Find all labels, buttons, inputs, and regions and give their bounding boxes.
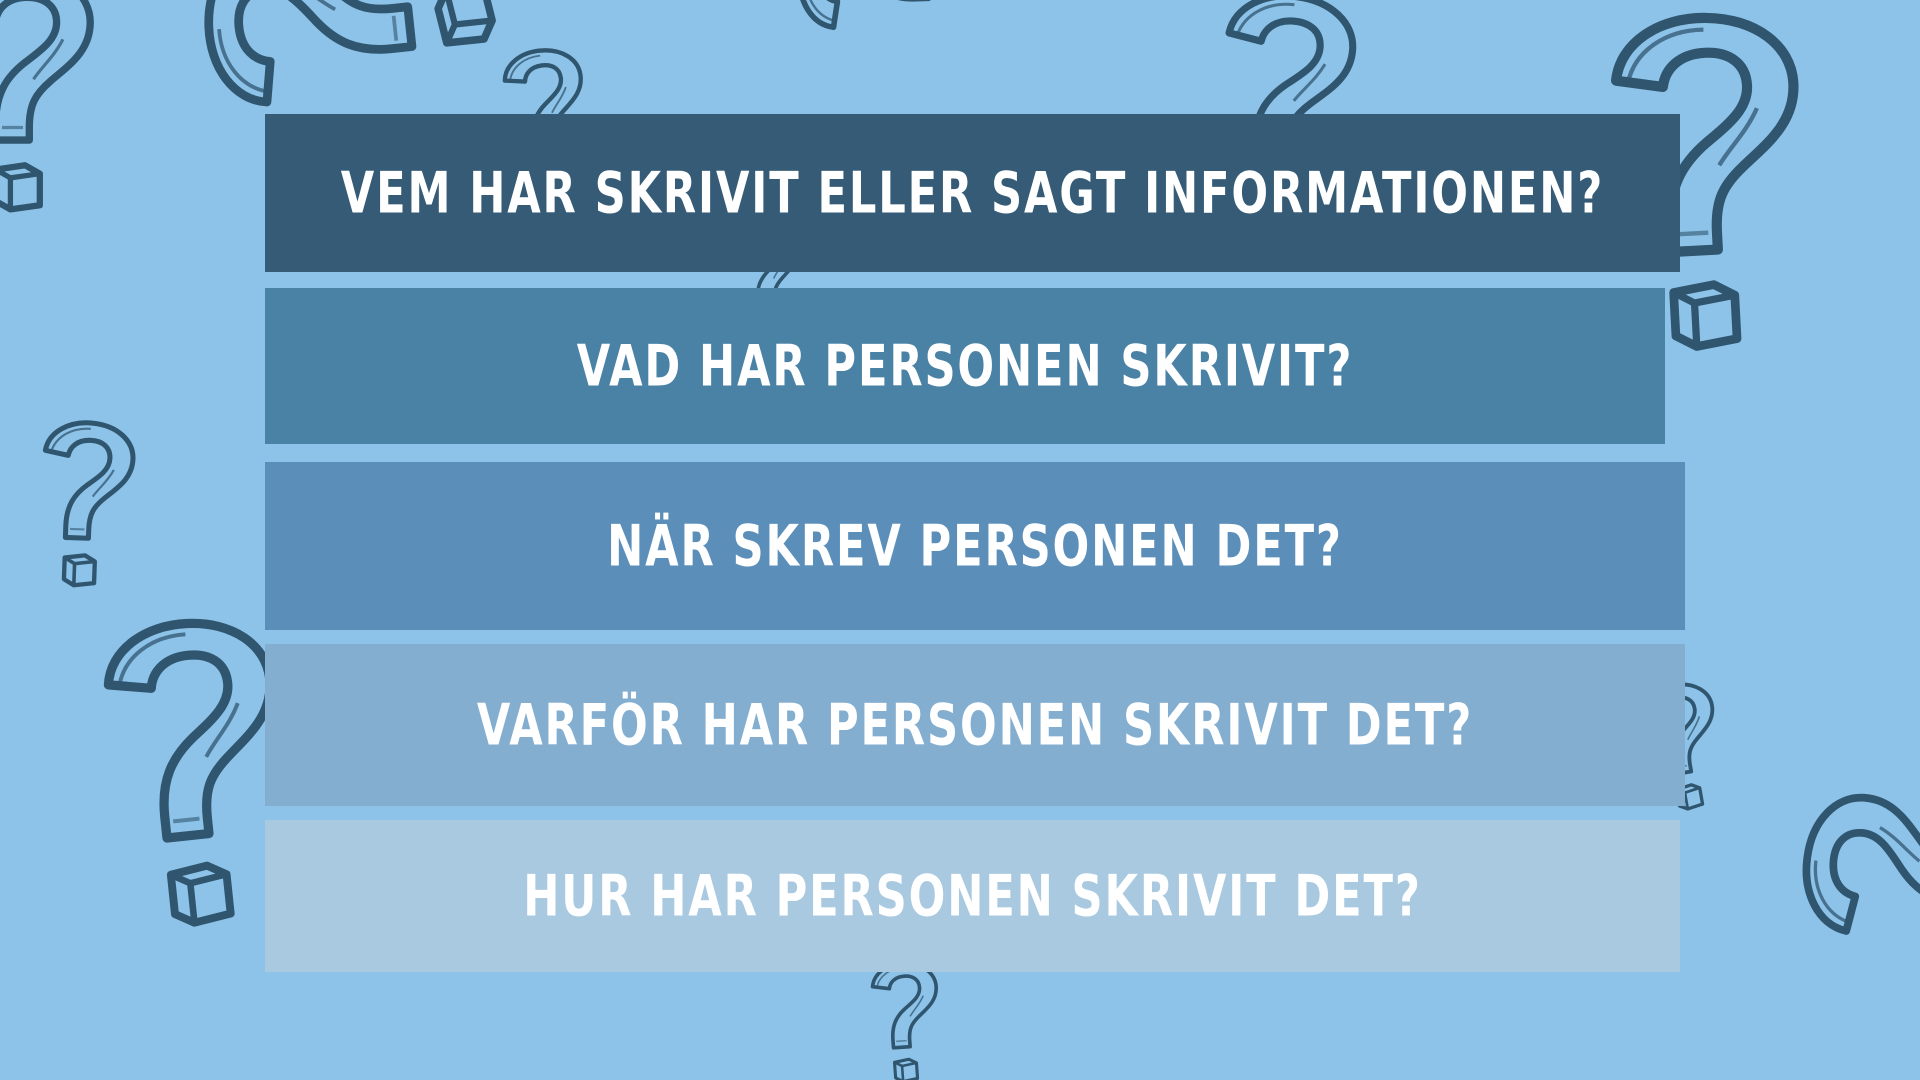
banner-why[interactable]: VARFÖR HAR PERSONEN SKRIVIT DET? — [265, 644, 1685, 806]
banner-how-label: HUR HAR PERSONEN SKRIVIT DET? — [322, 867, 1624, 924]
banner-what-label: VAD HAR PERSONEN SKRIVIT? — [321, 337, 1609, 394]
banner-when-label: NÄR SKREV PERSONEN DET? — [322, 517, 1628, 574]
banner-who[interactable]: VEM HAR SKRIVIT ELLER SAGT INFORMATIONEN… — [265, 114, 1680, 272]
banner-stack: VEM HAR SKRIVIT ELLER SAGT INFORMATIONEN… — [0, 0, 1920, 1080]
banner-why-label: VARFÖR HAR PERSONEN SKRIVIT DET? — [322, 696, 1628, 753]
banner-how[interactable]: HUR HAR PERSONEN SKRIVIT DET? — [265, 820, 1680, 972]
banner-when[interactable]: NÄR SKREV PERSONEN DET? — [265, 462, 1685, 630]
banner-what[interactable]: VAD HAR PERSONEN SKRIVIT? — [265, 288, 1665, 444]
banner-who-label: VEM HAR SKRIVIT ELLER SAGT INFORMATIONEN… — [322, 164, 1624, 221]
slide-canvas: VEM HAR SKRIVIT ELLER SAGT INFORMATIONEN… — [0, 0, 1920, 1080]
